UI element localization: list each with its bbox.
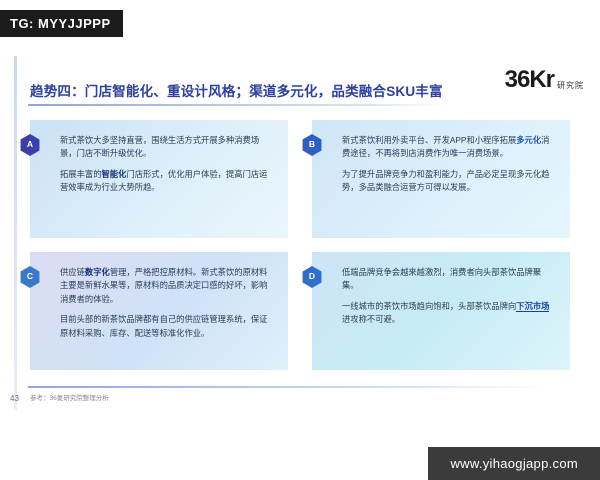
content-card-c: C 供应链数字化管理，严格把控原材料。新式茶饮的原材料主要是新鲜水果等，原材料的… [30, 252, 288, 370]
card-a-paragraph-1: 新式茶饮大多坚持直营，围绕生活方式开展多种消费场景，门店不断升级优化。 [60, 134, 274, 161]
card-badge-d: D [301, 266, 323, 288]
site-watermark: www.yihaogjapp.com [428, 447, 600, 480]
card-a-paragraph-2: 拓展丰富的智能化门店形式，优化用户体验，提高门店运营效率成为行业大势所趋。 [60, 168, 274, 195]
brand-logo: 36Kr 研究院 [505, 68, 584, 92]
content-card-d: D 低端品牌竞争会越来越激烈，消费者向头部茶饮品牌聚集。 一线城市的茶饮市场趋向… [312, 252, 570, 370]
card-badge-c: C [19, 266, 41, 288]
card-d-paragraph-1: 低端品牌竞争会越来越激烈，消费者向头部茶饮品牌聚集。 [342, 266, 556, 293]
page-number: 43 [10, 394, 19, 403]
card-c-paragraph-1: 供应链数字化管理，严格把控原材料。新式茶饮的原材料主要是新鲜水果等，原材料的品质… [60, 266, 274, 306]
card-d-paragraph-2: 一线城市的茶饮市场趋向饱和，头部茶饮品牌向下沉市场进攻称不可避。 [342, 300, 556, 327]
left-accent-rail [14, 56, 17, 410]
logo-wordmark: 36Kr [505, 68, 554, 92]
card-badge-a: A [19, 134, 41, 156]
content-card-a: A 新式茶饮大多坚持直营，围绕生活方式开展多种消费场景，门店不断升级优化。 拓展… [30, 120, 288, 238]
card-b-highlight: 多元化 [516, 135, 541, 145]
footer-rule [28, 386, 548, 388]
title-underline [28, 104, 448, 106]
telegram-watermark-tag: TG: MYYJJPPP [0, 10, 123, 37]
card-c-paragraph-2: 目前头部的新茶饮品牌都有自己的供应链管理系统，保证原材料采购、库存、配送等标准化… [60, 313, 274, 340]
card-a-highlight: 智能化 [102, 169, 127, 179]
content-card-b: B 新式茶饮利用外卖平台、开发APP和小程序拓展多元化消费途径，不再将到店消费作… [312, 120, 570, 238]
logo-subtitle: 研究院 [557, 81, 584, 92]
card-b-paragraph-1: 新式茶饮利用外卖平台、开发APP和小程序拓展多元化消费途径，不再将到店消费作为唯… [342, 134, 556, 161]
slide-canvas: 趋势四：门店智能化、重设计风格；渠道多元化，品类融合SKU丰富 36Kr 研究院… [0, 42, 600, 432]
page-title: 趋势四：门店智能化、重设计风格；渠道多元化，品类融合SKU丰富 [30, 80, 443, 100]
source-footnote: 参考：36氪研究院整理分析 [30, 392, 109, 402]
card-d-highlight: 下沉市场 [516, 301, 549, 312]
card-badge-b: B [301, 134, 323, 156]
cards-grid: A 新式茶饮大多坚持直营，围绕生活方式开展多种消费场景，门店不断升级优化。 拓展… [30, 120, 570, 370]
card-b-paragraph-2: 为了提升品牌竞争力和盈利能力，产品必定呈现多元化趋势，多品类融合运营方可得以发展… [342, 168, 556, 195]
card-c-highlight: 数字化 [85, 267, 110, 277]
